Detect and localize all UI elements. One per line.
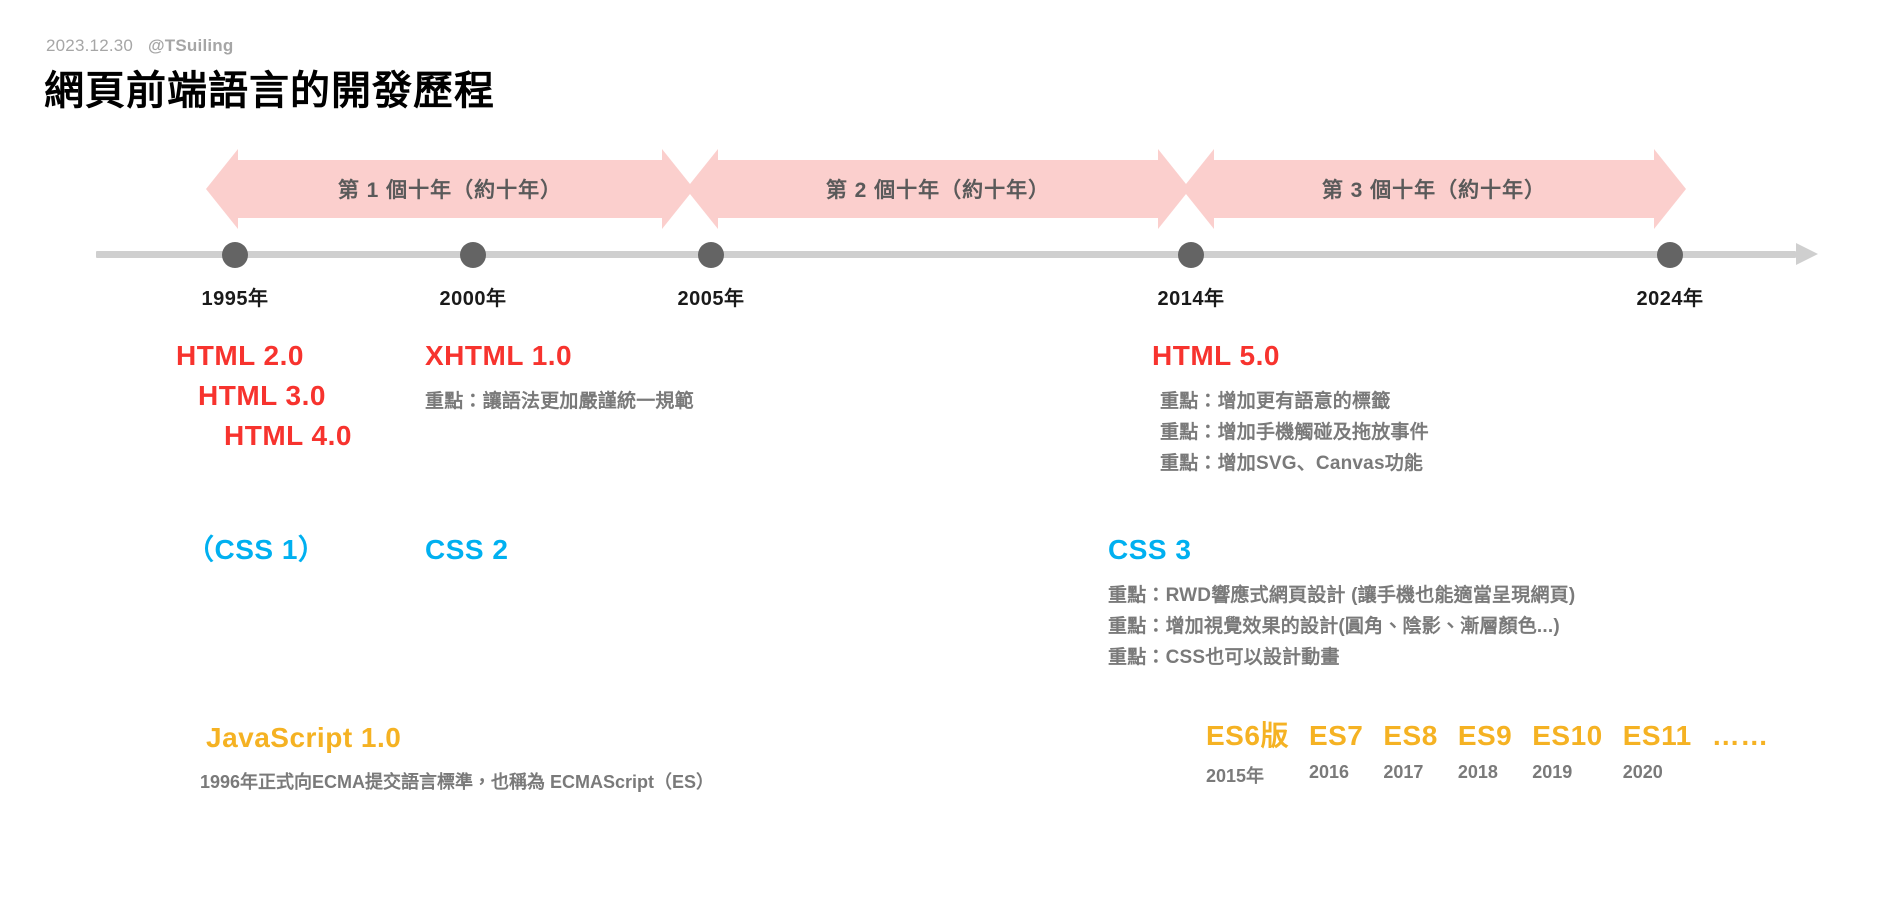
es-release-more: …… — [1712, 718, 1769, 762]
decade-arrow-3: 第 3 個十年（約十年） — [1214, 160, 1654, 218]
xhtml-block: XHTML 1.0 重點：讓語法更加嚴謹統一規範 — [425, 336, 694, 417]
javascript-title: JavaScript 1.0 — [206, 718, 714, 758]
html5-note-1: 重點：增加更有語意的標籤 — [1160, 386, 1429, 417]
css1-title: （CSS 1） — [186, 530, 326, 570]
byline-author: @TSuiling — [148, 36, 233, 55]
es-year: 2018 — [1458, 762, 1498, 783]
timeline-year-1995: 1995年 — [202, 282, 269, 311]
decade-arrow-3-label: 第 3 個十年（約十年） — [1322, 174, 1546, 204]
byline-date: 2023.12.30 — [46, 36, 133, 55]
decade-arrow-2: 第 2 個十年（約十年） — [718, 160, 1158, 218]
diagram-canvas: 2023.12.30 @TSuiling 網頁前端語言的開發歷程 第 1 個十年… — [0, 0, 1900, 900]
es-release-item: ES9 2018 — [1458, 718, 1512, 783]
timeline-year-2000: 2000年 — [440, 282, 507, 311]
css3-note-3: 重點：CSS也可以設計動畫 — [1108, 642, 1575, 673]
es-name: ES6版 — [1206, 718, 1289, 754]
es-year: 2017 — [1383, 762, 1423, 783]
es-name: ES8 — [1383, 718, 1437, 754]
es-year: 2015年 — [1206, 762, 1264, 788]
timeline-node-2005 — [698, 242, 724, 268]
decade-arrow-1: 第 1 個十年（約十年） — [238, 160, 662, 218]
timeline-node-2024 — [1657, 242, 1683, 268]
es-release-item: ES10 2019 — [1532, 718, 1603, 783]
html5-note-2: 重點：增加手機觸碰及拖放事件 — [1160, 417, 1429, 448]
html-2-label: HTML 2.0 — [176, 336, 352, 376]
timeline-year-2005: 2005年 — [678, 282, 745, 311]
es-name: …… — [1712, 718, 1769, 754]
byline: 2023.12.30 @TSuiling — [46, 36, 233, 56]
timeline-node-2000 — [460, 242, 486, 268]
css2-block: CSS 2 — [425, 530, 508, 570]
html5-note-3: 重點：增加SVG、Canvas功能 — [1160, 448, 1429, 479]
css3-note-1: 重點：RWD響應式網頁設計 (讓手機也能適當呈現網頁) — [1108, 580, 1575, 611]
css3-title: CSS 3 — [1108, 530, 1575, 570]
css1-block: （CSS 1） — [186, 530, 326, 570]
javascript-block: JavaScript 1.0 1996年正式向ECMA提交語言標準，也稱為 EC… — [206, 718, 714, 797]
css3-note-2: 重點：增加視覺效果的設計(圓角、陰影、漸層顏色...) — [1108, 611, 1575, 642]
css2-title: CSS 2 — [425, 530, 508, 570]
ecmascript-releases: ES6版 2015年 ES7 2016 ES8 2017 ES9 2018 ES… — [1206, 718, 1769, 788]
timeline-node-1995 — [222, 242, 248, 268]
decade-arrow-2-label: 第 2 個十年（約十年） — [826, 174, 1050, 204]
es-name: ES7 — [1309, 718, 1363, 754]
es-release-item: ES11 2020 — [1623, 718, 1692, 783]
timeline-axis — [96, 251, 1796, 258]
es-name: ES11 — [1623, 718, 1692, 754]
es-release-item: ES6版 2015年 — [1206, 718, 1289, 788]
es-name: ES9 — [1458, 718, 1512, 754]
timeline-node-2014 — [1178, 242, 1204, 268]
html-early-versions: HTML 2.0 HTML 3.0 HTML 4.0 — [176, 336, 352, 455]
css3-block: CSS 3 重點：RWD響應式網頁設計 (讓手機也能適當呈現網頁) 重點：增加視… — [1108, 530, 1575, 674]
javascript-note: 1996年正式向ECMA提交語言標準，也稱為 ECMAScript（ES） — [200, 768, 714, 797]
timeline-year-2014: 2014年 — [1158, 282, 1225, 311]
html5-block: HTML 5.0 重點：增加更有語意的標籤 重點：增加手機觸碰及拖放事件 重點：… — [1152, 336, 1429, 480]
es-release-item: ES7 2016 — [1309, 718, 1363, 783]
decade-arrow-1-label: 第 1 個十年（約十年） — [338, 174, 562, 204]
es-year: 2020 — [1623, 762, 1663, 783]
html-4-label: HTML 4.0 — [224, 416, 352, 456]
es-release-item: ES8 2017 — [1383, 718, 1437, 783]
html5-title: HTML 5.0 — [1152, 336, 1429, 376]
es-name: ES10 — [1532, 718, 1603, 754]
page-title: 網頁前端語言的開發歷程 — [44, 58, 495, 116]
html-3-label: HTML 3.0 — [198, 376, 352, 416]
xhtml-note: 重點：讓語法更加嚴謹統一規範 — [425, 386, 694, 417]
es-year: 2016 — [1309, 762, 1349, 783]
timeline-axis-arrow-icon — [1796, 243, 1818, 265]
es-year: 2019 — [1532, 762, 1572, 783]
xhtml-title: XHTML 1.0 — [425, 336, 694, 376]
decade-arrows: 第 1 個十年（約十年） 第 2 個十年（約十年） 第 3 個十年（約十年） — [0, 160, 1900, 218]
timeline-year-2024: 2024年 — [1637, 282, 1704, 311]
